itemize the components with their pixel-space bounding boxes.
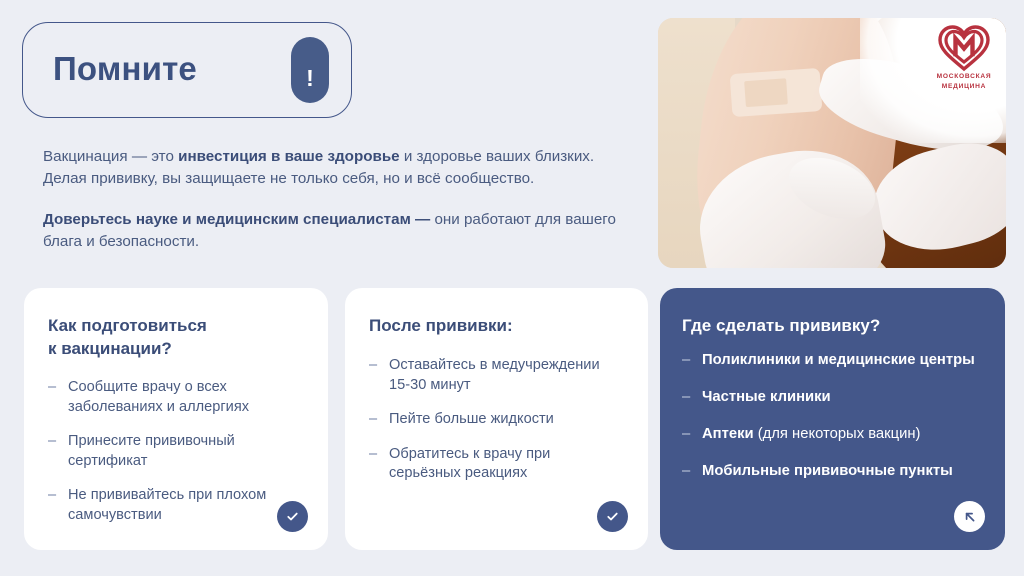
list-item-bold: Аптеки — [702, 426, 754, 442]
card-how-to-prepare: Как подготовиться к вакцинации? Сообщите… — [24, 288, 328, 550]
check-circle-icon — [277, 501, 308, 532]
intro-p1-bold: инвестиция в ваше здоровье — [178, 148, 399, 165]
intro-p2-bold: Доверьтесь науке и медицинским специалис… — [43, 211, 430, 228]
card-where-list: Поликлиники и медицинские центры Частные… — [660, 350, 1005, 498]
list-item-bold: Мобильные прививочные пункты — [702, 463, 953, 479]
card-after-vaccination: После прививки: Оставайтесь в медучрежде… — [345, 288, 648, 550]
card-after-list: Оставайтесь в медучреждении 15-30 минут … — [345, 356, 648, 499]
list-item: Частные клиники — [682, 387, 983, 407]
card-after-title: После прививки: — [345, 314, 648, 337]
intro-text-block: Вакцинация — это инвестиция в ваше здоро… — [43, 146, 618, 252]
list-item-bold: Поликлиники и медицинские центры — [702, 352, 975, 368]
check-circle-icon — [597, 501, 628, 532]
list-item: Не прививайтесь при плохом самочувствии — [48, 486, 304, 525]
list-item: Пейте больше жидкости — [369, 410, 624, 430]
heart-m-logo-icon — [928, 24, 1000, 72]
list-item: Аптеки (для некоторых вакцин) — [682, 424, 983, 444]
list-item: Принесите прививочный сертификат — [48, 432, 304, 471]
intro-paragraph-1: Вакцинация — это инвестиция в ваше здоро… — [43, 146, 618, 189]
logo-text-line-2: МЕДИЦИНА — [928, 82, 1000, 92]
card-where-to-vaccinate: Где сделать прививку? Поликлиники и меди… — [660, 288, 1005, 550]
arrow-up-left-icon — [954, 501, 985, 532]
infographic-root: Помните ! Вакцинация — это инвестиция в … — [0, 0, 1024, 576]
remember-title: Помните — [53, 50, 197, 88]
list-item: Обратитесь к врачу при серьёзных реакция… — [369, 445, 624, 484]
list-item: Мобильные прививочные пункты — [682, 461, 983, 481]
card-where-title: Где сделать прививку? — [660, 314, 1005, 337]
exclamation-mark: ! — [306, 67, 314, 103]
moscow-medicine-logo: МОСКОВСКАЯ МЕДИЦИНА — [928, 24, 1000, 91]
card-prepare-title: Как подготовиться к вакцинации? — [24, 314, 328, 360]
logo-text-line-1: МОСКОВСКАЯ — [928, 72, 1000, 82]
list-item: Оставайтесь в медучреждении 15-30 минут — [369, 356, 624, 395]
list-item: Поликлиники и медицинские центры — [682, 350, 983, 370]
list-item: Сообщите врачу о всех заболеваниях и алл… — [48, 378, 304, 417]
remember-banner: Помните ! — [22, 22, 352, 118]
list-item-regular: (для некоторых вакцин) — [754, 426, 921, 442]
photo-adhesive-bandage — [730, 67, 823, 116]
list-item-bold: Частные клиники — [702, 389, 831, 405]
intro-p1-part1: Вакцинация — это — [43, 148, 178, 165]
exclamation-pill-icon: ! — [291, 37, 329, 103]
intro-paragraph-2: Доверьтесь науке и медицинским специалис… — [43, 209, 618, 252]
